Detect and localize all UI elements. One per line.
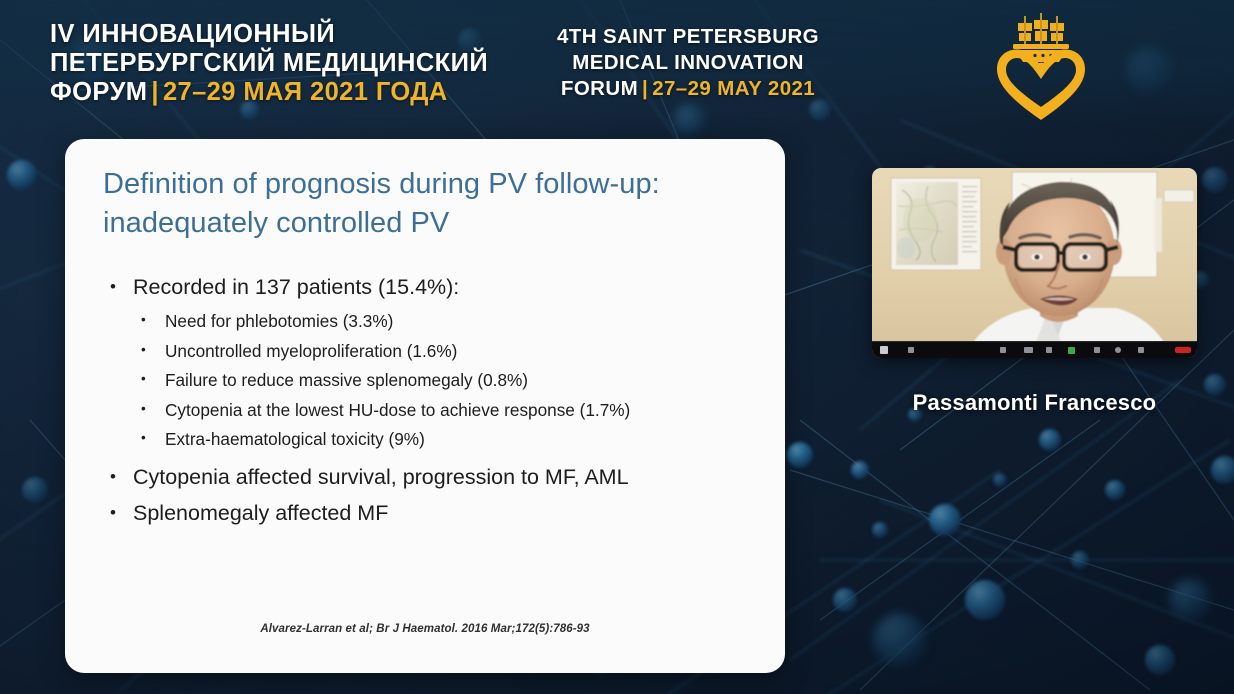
speaker-name-label: Passamonti Francesco bbox=[872, 390, 1197, 416]
conference-header: IV ИННОВАЦИОННЫЙ ПЕТЕРБУРГСКИЙ МЕДИЦИНСК… bbox=[0, 0, 1234, 132]
slide-title-line-2: inadequately controlled PV bbox=[103, 204, 753, 243]
header-en-line1: 4TH SAINT PETERSBURG bbox=[523, 24, 853, 50]
bullet-item: Need for phlebotomies (3.3%) bbox=[103, 310, 763, 332]
slide-title: Definition of prognosis during PV follow… bbox=[103, 165, 753, 242]
crowned-heart-ship-logo-icon bbox=[985, 6, 1097, 124]
header-en-forum-label: FORUM bbox=[561, 77, 638, 100]
taskbar-app-icon[interactable] bbox=[1046, 347, 1052, 353]
slide-citation: Alvarez-Larran et al; Br J Haematol. 201… bbox=[65, 623, 785, 635]
taskbar-app-icon[interactable] bbox=[1138, 347, 1144, 353]
taskbar-app-icon-active[interactable] bbox=[1068, 347, 1075, 354]
header-ru-line2: ПЕТЕРБУРГСКИЙ МЕДИЦИНСКИЙ bbox=[50, 49, 520, 78]
header-en-line2: MEDICAL INNOVATION bbox=[523, 50, 853, 76]
header-en-separator: | bbox=[638, 77, 652, 100]
taskbar-app-icon[interactable] bbox=[1094, 347, 1100, 353]
header-ru-forum-label: ФОРУМ bbox=[50, 78, 147, 106]
start-button-icon[interactable] bbox=[880, 346, 888, 354]
bullet-item: Extra-haematological toxicity (9%) bbox=[103, 428, 763, 450]
speaker-video-feed[interactable] bbox=[872, 168, 1197, 358]
webcam-scene bbox=[872, 168, 1197, 358]
bullet-item: Splenomegaly affected MF bbox=[103, 500, 763, 527]
bullet-item: Failure to reduce massive splenomegaly (… bbox=[103, 369, 763, 391]
slide-title-line-1: Definition of prognosis during PV follow… bbox=[103, 165, 753, 204]
bullet-item: Cytopenia affected survival, progression… bbox=[103, 464, 763, 491]
header-ru-dates: 27–29 МАЯ 2021 ГОДА bbox=[163, 78, 448, 106]
bullet-item: Recorded in 137 patients (15.4%): bbox=[103, 274, 763, 301]
header-ru-separator: | bbox=[147, 78, 163, 106]
bullet-item: Cytopenia at the lowest HU-dose to achie… bbox=[103, 399, 763, 421]
header-en-line3: FORUM|27–29 MAY 2021 bbox=[523, 76, 853, 102]
taskbar-app-icon[interactable] bbox=[1115, 347, 1121, 353]
windows-taskbar[interactable] bbox=[872, 341, 1197, 358]
header-title-russian: IV ИННОВАЦИОННЫЙ ПЕТЕРБУРГСКИЙ МЕДИЦИНСК… bbox=[50, 20, 520, 107]
taskview-icon[interactable] bbox=[1024, 347, 1033, 353]
header-title-english: 4TH SAINT PETERSBURG MEDICAL INNOVATION … bbox=[523, 24, 853, 102]
recording-indicator-icon bbox=[1175, 347, 1191, 353]
presentation-slide: Definition of prognosis during PV follow… bbox=[65, 139, 785, 673]
webinar-screen: IV ИННОВАЦИОННЫЙ ПЕТЕРБУРГСКИЙ МЕДИЦИНСК… bbox=[0, 0, 1234, 694]
bullet-item: Uncontrolled myeloproliferation (1.6%) bbox=[103, 340, 763, 362]
search-icon[interactable] bbox=[1000, 347, 1006, 353]
taskbar-app-icon[interactable] bbox=[908, 347, 914, 353]
slide-bullet-list: Recorded in 137 patients (15.4%): Need f… bbox=[103, 274, 763, 536]
header-ru-line3: ФОРУМ|27–29 МАЯ 2021 ГОДА bbox=[50, 78, 520, 107]
header-ru-line1: IV ИННОВАЦИОННЫЙ bbox=[50, 20, 520, 49]
video-content bbox=[872, 168, 1197, 358]
header-en-dates: 27–29 MAY 2021 bbox=[652, 77, 815, 100]
